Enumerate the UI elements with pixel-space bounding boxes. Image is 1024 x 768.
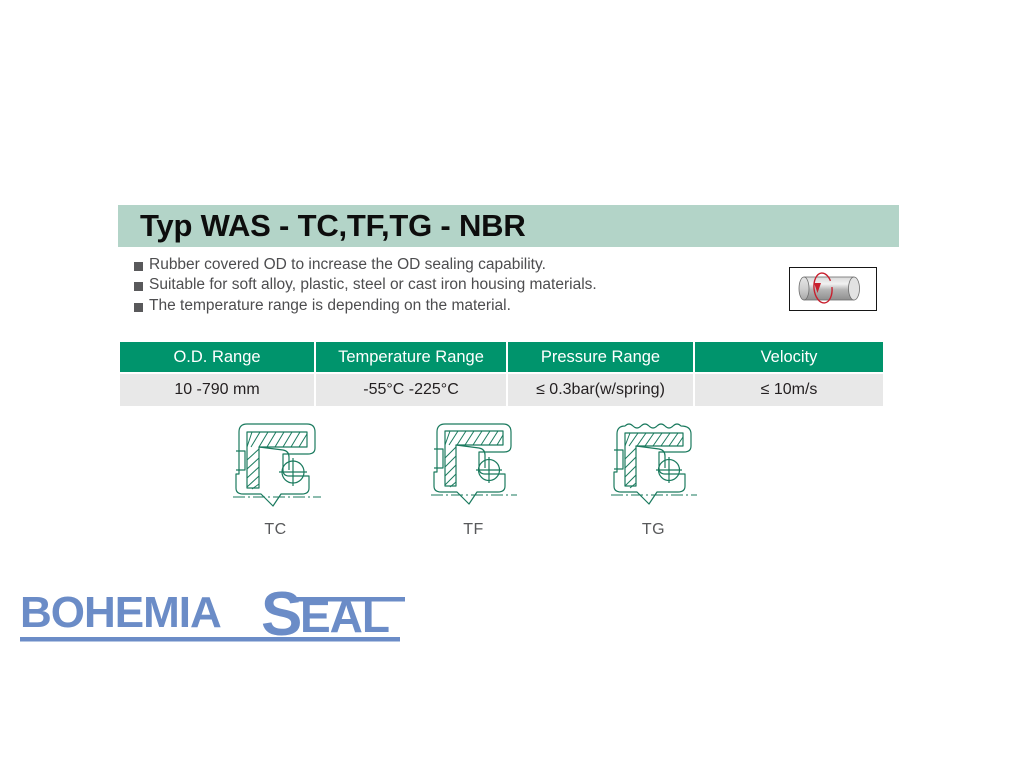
cell-od-range: 10 -790 mm	[120, 374, 314, 406]
feature-text: The temperature range is depending on th…	[149, 298, 511, 314]
column-header-velocity: Velocity	[695, 342, 883, 372]
seal-cross-section-tf-icon	[421, 418, 526, 518]
list-item: The temperature range is depending on th…	[134, 298, 754, 314]
square-bullet-icon	[134, 303, 143, 312]
rotating-shaft-icon	[789, 267, 877, 311]
square-bullet-icon	[134, 262, 143, 271]
page-title: Typ WAS - TC,TF,TG - NBR	[118, 208, 526, 244]
list-item: Suitable for soft alloy, plastic, steel …	[134, 277, 754, 293]
column-header-temperature: Temperature Range	[316, 342, 506, 372]
list-item: Rubber covered OD to increase the OD sea…	[134, 257, 754, 273]
cell-temperature: -55°C -225°C	[316, 374, 506, 406]
datasheet-page: Typ WAS - TC,TF,TG - NBR Rubber covered …	[0, 0, 1024, 768]
feature-list: Rubber covered OD to increase the OD sea…	[134, 257, 754, 318]
seal-label-tf: TF	[406, 521, 541, 539]
seal-diagram-tc: TC	[208, 418, 343, 539]
cell-velocity: ≤ 10m/s	[695, 374, 883, 406]
column-header-pressure: Pressure Range	[508, 342, 693, 372]
column-header-od-range: O.D. Range	[120, 342, 314, 372]
square-bullet-icon	[134, 282, 143, 291]
seal-diagram-tg: TG	[586, 418, 721, 539]
seal-label-tg: TG	[586, 521, 721, 539]
title-band: Typ WAS - TC,TF,TG - NBR	[118, 205, 899, 247]
table-header-row: O.D. Range Temperature Range Pressure Ra…	[120, 342, 883, 372]
cell-pressure: ≤ 0.3bar(w/spring)	[508, 374, 693, 406]
seal-cross-section-tg-icon	[601, 418, 706, 518]
feature-text: Suitable for soft alloy, plastic, steel …	[149, 277, 597, 293]
seal-diagram-group: TC	[118, 418, 875, 553]
seal-diagram-tf: TF	[406, 418, 541, 539]
specification-table: O.D. Range Temperature Range Pressure Ra…	[118, 340, 885, 408]
table-row: 10 -790 mm -55°C -225°C ≤ 0.3bar(w/sprin…	[120, 374, 883, 406]
bohemia-seal-logo: BOHEMIA S EAL	[18, 585, 418, 647]
seal-label-tc: TC	[208, 521, 343, 539]
svg-text:BOHEMIA: BOHEMIA	[20, 588, 221, 637]
seal-cross-section-tc-icon	[221, 418, 331, 518]
feature-text: Rubber covered OD to increase the OD sea…	[149, 257, 546, 273]
